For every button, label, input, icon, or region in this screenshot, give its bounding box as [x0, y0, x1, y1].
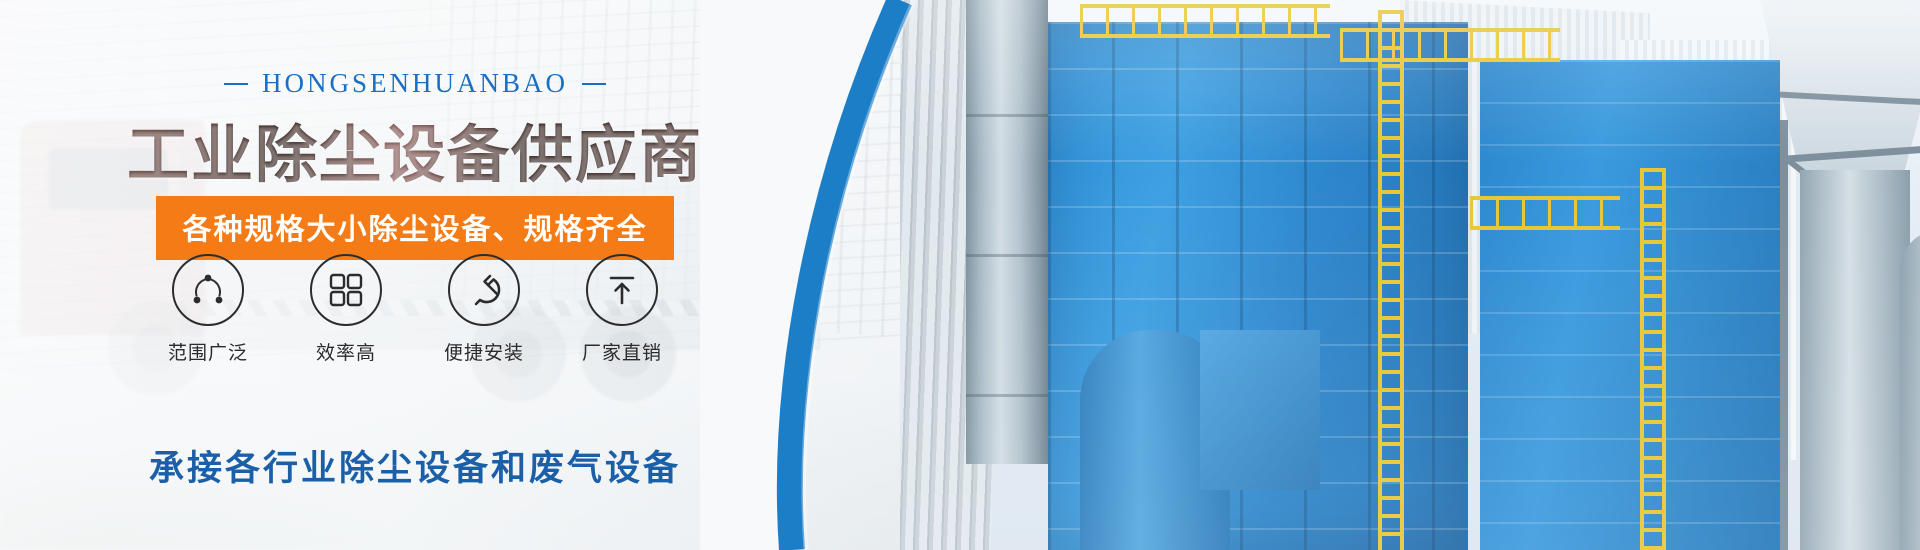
brand-eyebrow-text: HONGSENHUANBAO: [262, 68, 568, 99]
feature-label: 效率高: [291, 338, 401, 365]
sub-banner-text: 各种规格大小除尘设备、规格齐全: [156, 196, 673, 260]
feature-icon-ring: [310, 254, 382, 326]
feature-icon-ring: [172, 254, 244, 326]
network-nodes-icon: [188, 270, 228, 310]
hero-banner: HONGSENHUANBAO 工业除尘设备供应商 各种规格大小除尘设备、规格齐全: [0, 0, 1920, 550]
dash-right-icon: [582, 83, 606, 85]
wrench-icon: [464, 270, 504, 310]
feature-label: 范围广泛: [153, 338, 263, 365]
grid-squares-icon: [327, 271, 365, 309]
feature-label: 厂家直销: [567, 338, 677, 365]
feature-icon-ring: [586, 254, 658, 326]
feature-icon-ring: [448, 254, 520, 326]
hero-tagline: 承接各行业除尘设备和废气设备: [0, 440, 830, 491]
dash-left-icon: [224, 83, 248, 85]
feature-item-wide-range[interactable]: 范围广泛: [153, 254, 263, 365]
feature-item-high-efficiency[interactable]: 效率高: [291, 254, 401, 365]
feature-label: 便捷安装: [429, 338, 539, 365]
page-title: 工业除尘设备供应商: [0, 104, 830, 194]
feature-item-easy-install[interactable]: 便捷安装: [429, 254, 539, 365]
hero-content: HONGSENHUANBAO 工业除尘设备供应商 各种规格大小除尘设备、规格齐全: [0, 0, 830, 550]
arrow-up-bar-icon: [603, 271, 641, 309]
sub-banner: 各种规格大小除尘设备、规格齐全: [0, 196, 830, 260]
brand-eyebrow: HONGSENHUANBAO: [0, 68, 830, 99]
feature-list: 范围广泛 效率高: [0, 254, 830, 365]
feature-item-factory-direct[interactable]: 厂家直销: [567, 254, 677, 365]
